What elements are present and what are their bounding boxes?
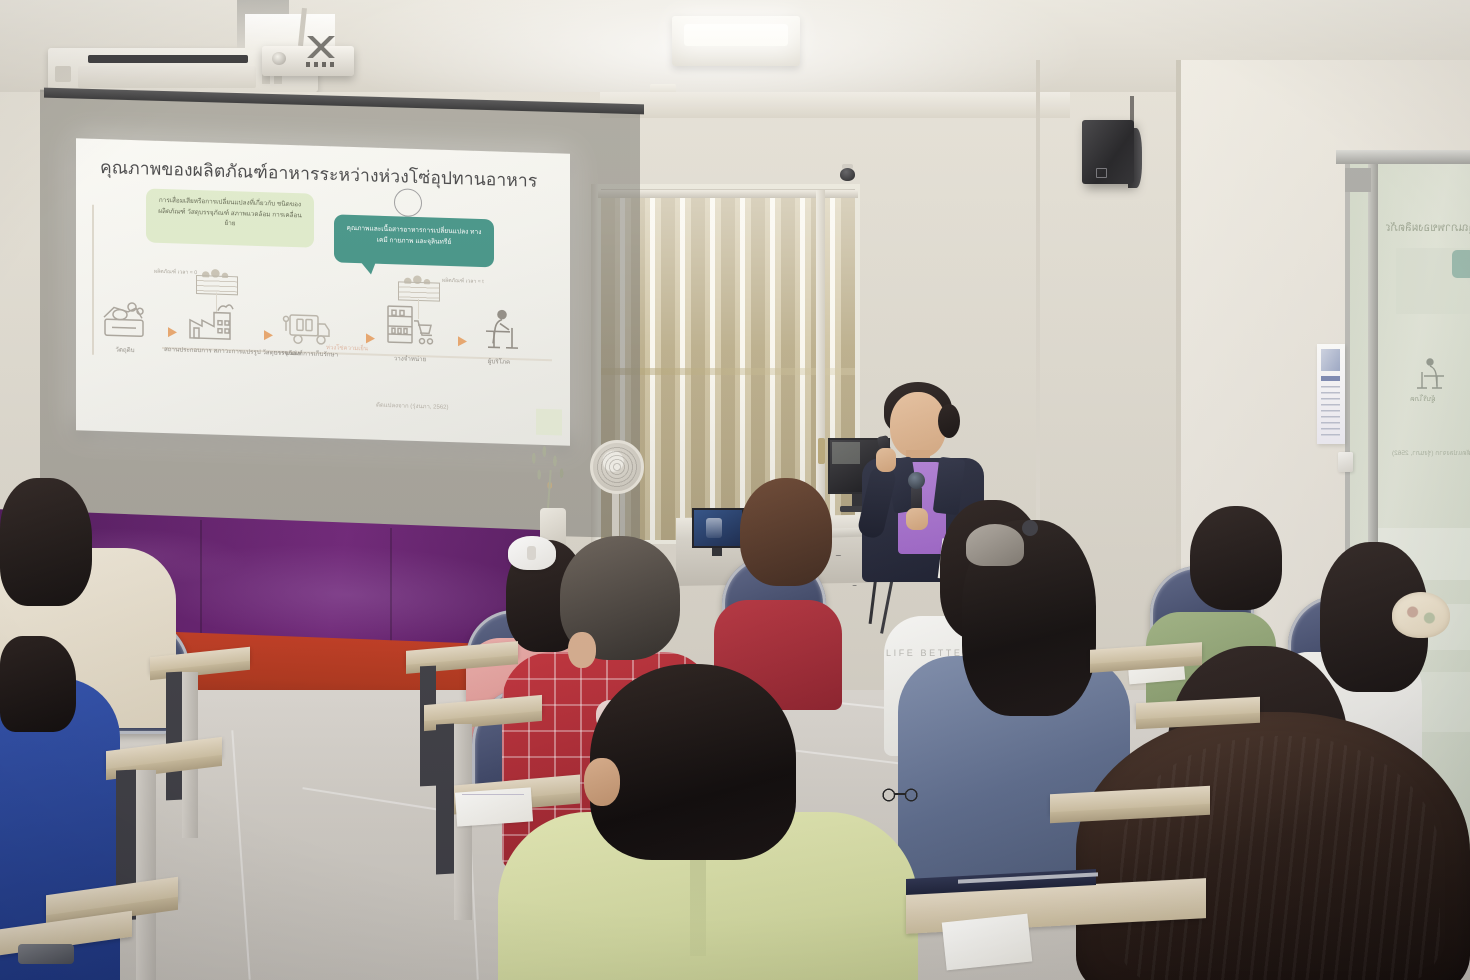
door-reflection-teal-callout [1452, 250, 1470, 278]
slide-corner-block [536, 409, 562, 436]
stage-panel-seam-b [390, 528, 392, 642]
hair-tie [1022, 520, 1038, 536]
attendee-hair [0, 478, 92, 606]
wall-notice-text-lines [1321, 386, 1340, 436]
fan-grille [596, 446, 638, 488]
desk-object [18, 944, 74, 964]
attendee-hair [1190, 506, 1282, 610]
pa-speaker [1082, 120, 1134, 184]
av-monitor-desktop-icon [706, 518, 722, 538]
slide-circle-marker [394, 188, 422, 217]
slide-callout-green: การเสื่อมเสียหรือการเปลี่ยนแปลงที่เกี่ยว… [146, 188, 314, 247]
glass-door-hinge-top [1345, 168, 1371, 192]
presenter-hand-mic [906, 508, 928, 530]
stage-panel-seam-a [200, 520, 202, 638]
projection-screen: คุณภาพของผลิตภัณฑ์อาหารระหว่างห่วงโซ่อุป… [76, 138, 570, 446]
av-monitor-glare [832, 442, 860, 464]
stage-arrow-2 [264, 330, 273, 340]
stage-icon-factory [184, 298, 238, 348]
microphone-head-icon [908, 472, 925, 489]
door-reflection-title: คุณภาพของผลิตภัณฑ์อาหารระหว่างห่วงโซ่อุป… [1386, 218, 1470, 236]
paper-sheet [942, 914, 1033, 971]
attendee-hair [590, 664, 796, 860]
desk-leg [136, 770, 156, 980]
attendee-ear [584, 758, 620, 806]
window-mullion [816, 190, 825, 542]
slide-crate-left [196, 266, 236, 293]
presenter-hair-back [938, 404, 960, 438]
door-reflection-label: ผู้บริโภค [1410, 394, 1435, 405]
slide-citation: ดัดแปลงจาก (รุ่งนภา, 2562) [376, 400, 449, 412]
window-handle[interactable] [818, 438, 825, 464]
attendee-hair-strands [1120, 736, 1440, 980]
stage-arrow-1 [168, 327, 177, 337]
ac-side-vent-left [55, 66, 71, 82]
av-monitor-secondary-stand [712, 548, 722, 556]
light-switch[interactable] [1338, 452, 1353, 472]
projector-lens-icon [272, 52, 286, 65]
stage-label-consumer: ผู้บริโภค [468, 357, 530, 369]
wall-notice-image [1321, 349, 1340, 371]
attendee-ear [568, 632, 596, 668]
dried-flower-stems [518, 446, 584, 514]
attendee-hair [0, 636, 76, 732]
attendee-hair-grey-streak [966, 524, 1024, 566]
desk-panel [436, 724, 454, 875]
door-reflection-citation: ดัดแปลงจาก (รุ่งนภา, 2562) [1392, 448, 1470, 458]
stage-label-processing: สถานประกอบการ สภาวะการแปรรูป วัสดุบรรจุภ… [164, 345, 260, 358]
eyeglasses [880, 788, 920, 802]
projector-mount-bracket-b [300, 36, 342, 58]
slide-crate-right [398, 272, 438, 299]
stage-label-retail: วางจำหน่าย [380, 354, 440, 366]
floral-hair-bow-pattern [1400, 600, 1442, 630]
attendee-hair [740, 478, 832, 586]
slide-callout-teal: คุณภาพและเนื้อสารอาหารการเปลี่ยนแปลง ทาง… [334, 214, 494, 267]
fluorescent-tube [684, 24, 788, 46]
stage-icon-consumer [472, 305, 526, 355]
slide-content: คุณภาพของผลิตภัณฑ์อาหารระหว่างห่วงโซ่อุป… [76, 138, 570, 446]
stage-icon-store-shelf [382, 300, 436, 350]
glass-door-header [1336, 150, 1470, 164]
presenter-hand-upper [876, 448, 896, 472]
stage-label-transport: การขนส่ง/ การเก็บรักษา [254, 348, 358, 362]
stage-label-raw-material: วัตถุดิบ [90, 345, 160, 357]
white-hair-bow-knot [527, 546, 536, 560]
slide-crate-right-label: ผลิตภัณฑ์ เวลา = t [442, 278, 494, 287]
projector-vent-dots [306, 62, 336, 67]
ceiling-camera-icon [840, 168, 855, 181]
stage-arrow-4 [458, 336, 467, 346]
stage-icon-raw-material [98, 297, 152, 347]
wall-notice-header [1321, 376, 1340, 381]
notebook-lines [462, 794, 524, 798]
seminar-room-photo: คุณภาพของผลิตภัณฑ์อาหารระหว่างห่วงโซ่อุป… [0, 0, 1470, 980]
ac-grille [78, 66, 256, 88]
pa-speaker-logo [1096, 168, 1107, 178]
desk-panel [166, 672, 182, 801]
door-reflection-consumer-icon [1414, 356, 1454, 390]
slide-left-rule [92, 205, 94, 355]
eyeglasses-bridge [895, 793, 905, 795]
stage-arrow-3 [366, 333, 375, 343]
slide-callout-teal-tail [360, 261, 376, 275]
stage-icon-refrigerated-truck [280, 301, 334, 351]
ac-vent-slot [88, 55, 248, 63]
slide-crate-left-label: ผลิตภัณฑ์ เวลา = 0 [154, 269, 194, 278]
wall-soffit [600, 92, 1070, 118]
